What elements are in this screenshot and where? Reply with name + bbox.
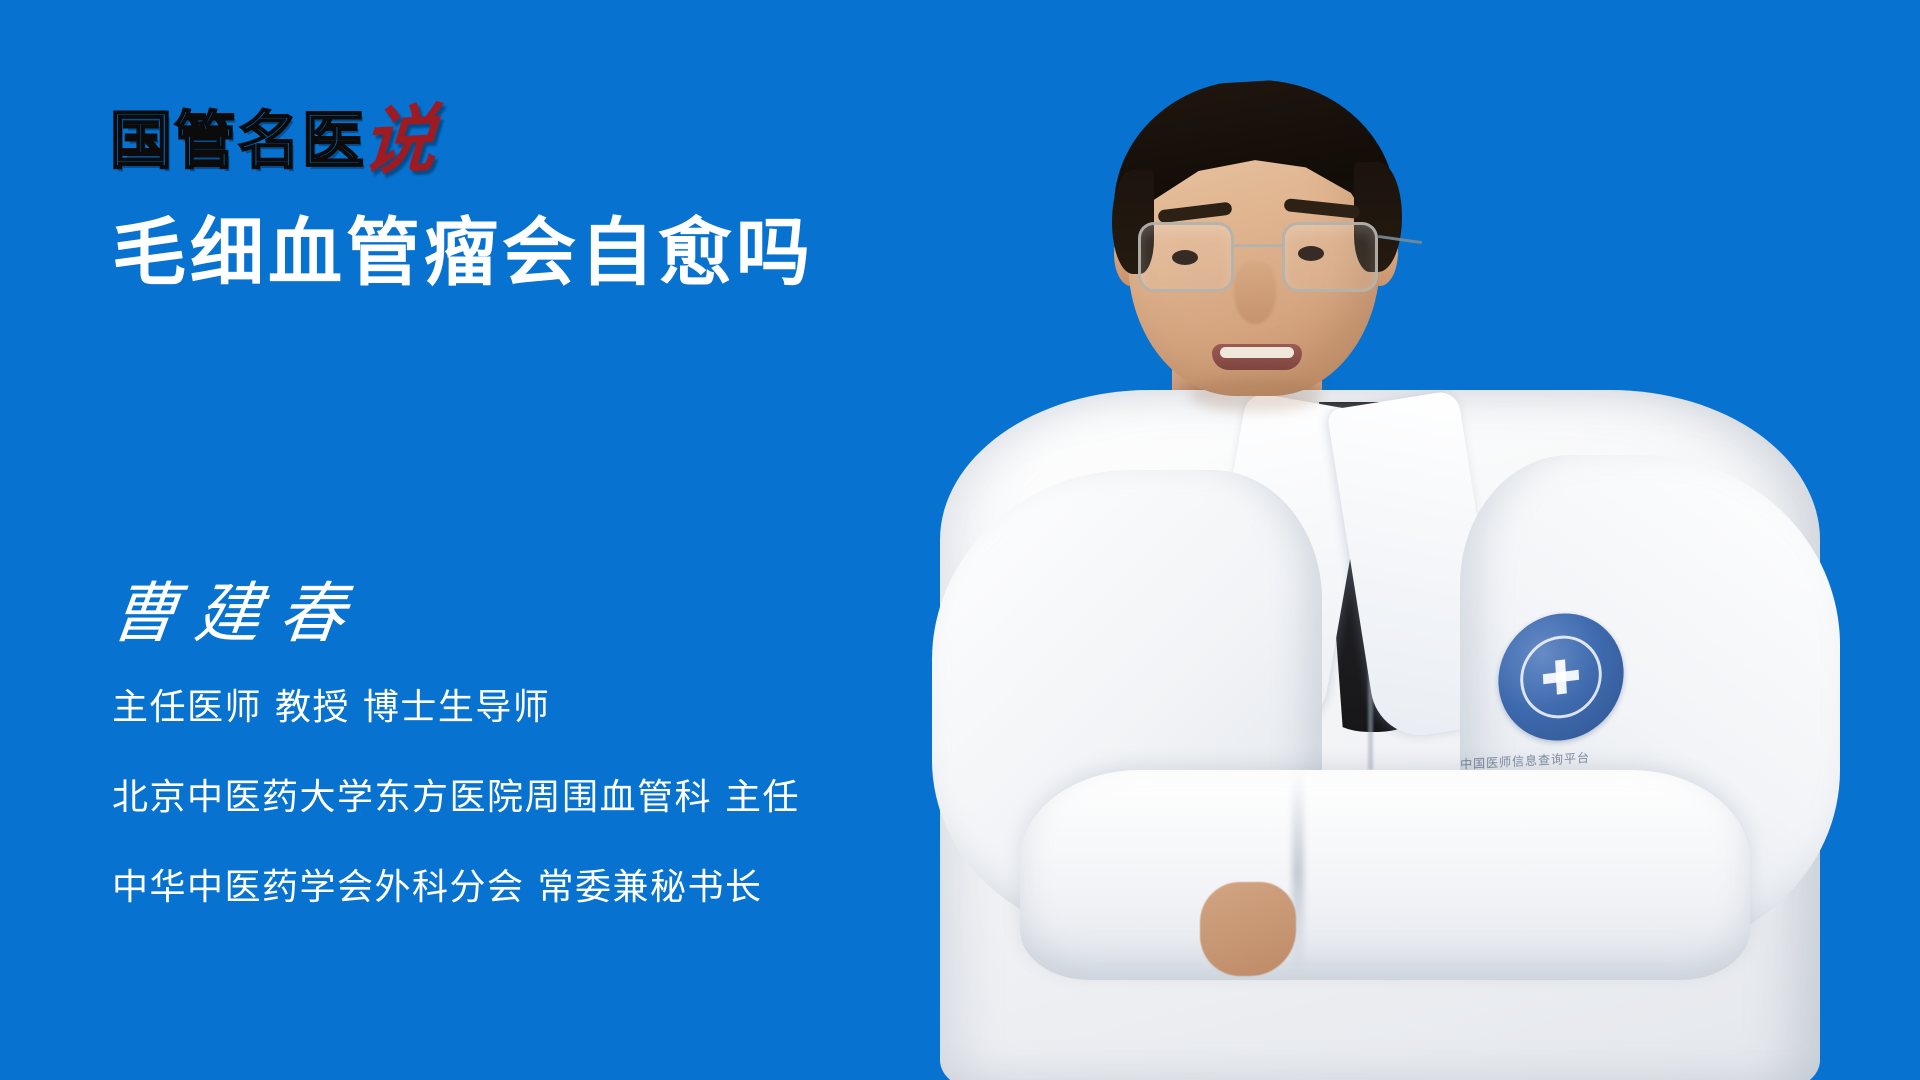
glasses-bridge (1234, 244, 1282, 247)
program-logo: 国管名医 说 (110, 88, 434, 172)
program-logo-accent-text: 说 (360, 104, 438, 178)
page-title: 毛细血管瘤会自愈吗 (112, 212, 814, 295)
crossed-forearms (1020, 770, 1750, 980)
cover-canvas: 国管名医 说 毛细血管瘤会自愈吗 曹建春 主任医师 教授 博士生导师 北京中医药… (0, 0, 1920, 1080)
teeth (1220, 347, 1294, 358)
credential-line-2: 北京中医药大学东方医院周围血管科 主任 (112, 780, 800, 816)
lens-right (1282, 222, 1378, 292)
doctor-credentials: 主任医师 教授 博士生导师 北京中医药大学东方医院周围血管科 主任 中华中医药学… (112, 690, 800, 906)
doctor-name: 曹建春 (106, 560, 370, 656)
coat-badge-emblem (1498, 614, 1624, 740)
hand-skin-lower (1200, 882, 1296, 976)
credential-line-1: 主任医师 教授 博士生导师 (112, 690, 800, 726)
nose (1234, 262, 1276, 324)
chin-shadow (1190, 378, 1322, 412)
medical-cross-icon (1542, 658, 1580, 696)
lens-left (1138, 222, 1234, 292)
credential-line-3: 中华中医药学会外科分会 常委兼秘书长 (112, 870, 800, 906)
program-logo-main-text: 国管名医 (110, 110, 366, 172)
doctor-figure: 中国医师信息查询平台 (900, 0, 1920, 1080)
doctor-portrait-photo: 中国医师信息查询平台 (900, 0, 1920, 1080)
mouth (1212, 344, 1302, 370)
